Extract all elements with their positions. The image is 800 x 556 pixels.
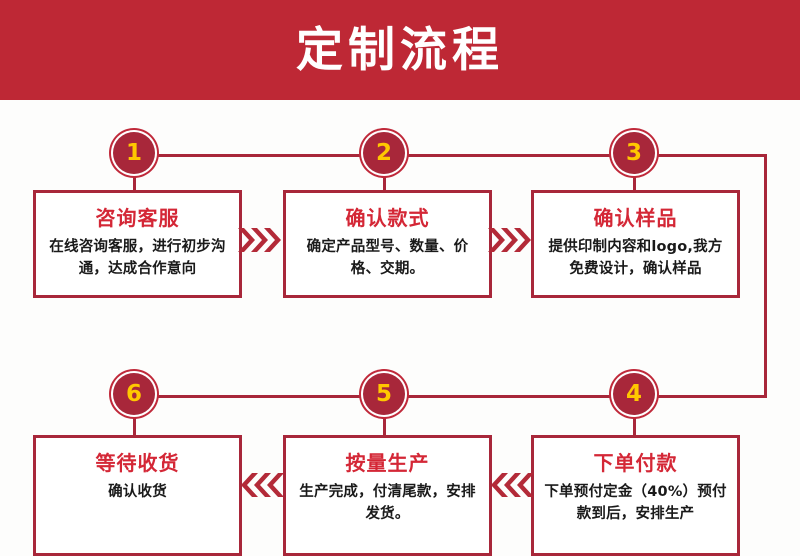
connector-stub-step3 [633, 172, 636, 192]
connector-stub-step1 [133, 172, 136, 192]
connector-stub-step2 [383, 172, 386, 192]
connector-stub-step6 [133, 413, 136, 435]
header-banner: 定制流程 [0, 0, 800, 100]
step-badge-2: 2 [363, 132, 405, 174]
step-badge-3: 3 [613, 132, 655, 174]
step-title: 按量生产 [286, 452, 489, 474]
step-box-6[interactable]: 等待收货 确认收货 [33, 435, 242, 556]
step-badge-number: 1 [126, 142, 142, 165]
connector-stub-step4 [633, 413, 636, 435]
arrow-left-step5-to-step6 [238, 473, 284, 497]
step-title: 确认款式 [286, 207, 489, 229]
connector-line-right-wrap [764, 154, 767, 398]
step-title: 确认样品 [534, 207, 737, 229]
step-title: 下单付款 [534, 452, 737, 474]
step-title: 等待收货 [36, 452, 239, 474]
page-title: 定制流程 [296, 27, 504, 74]
step-description: 确认收货 [36, 482, 239, 504]
step-badge-1: 1 [113, 132, 155, 174]
flow-diagram: 1 2 3 6 5 4 咨询客服 在线咨询客服，进行初步沟通，达成合作意向 确认… [0, 100, 800, 556]
arrow-left-step4-to-step5 [488, 473, 534, 497]
step-box-1[interactable]: 咨询客服 在线咨询客服，进行初步沟通，达成合作意向 [33, 190, 242, 298]
step-box-5[interactable]: 按量生产 生产完成，付清尾款，安排发货。 [283, 435, 492, 556]
step-description: 在线咨询客服，进行初步沟通，达成合作意向 [36, 237, 239, 281]
connector-stub-step5 [383, 413, 386, 435]
step-badge-number: 2 [376, 142, 392, 165]
step-badge-6: 6 [113, 373, 155, 415]
arrow-right-step1-to-step2 [238, 228, 284, 252]
step-badge-number: 3 [626, 142, 642, 165]
step-description: 提供印制内容和logo,我方免费设计，确认样品 [534, 237, 737, 281]
arrow-right-step2-to-step3 [488, 228, 534, 252]
step-badge-5: 5 [363, 373, 405, 415]
step-description: 下单预付定金（40%）预付款到后，安排生产 [534, 482, 737, 526]
step-badge-number: 6 [126, 383, 142, 406]
step-description: 确定产品型号、数量、价格、交期。 [286, 237, 489, 281]
step-box-2[interactable]: 确认款式 确定产品型号、数量、价格、交期。 [283, 190, 492, 298]
connector-line-top-rail [133, 154, 767, 157]
step-badge-number: 4 [626, 383, 642, 406]
step-box-3[interactable]: 确认样品 提供印制内容和logo,我方免费设计，确认样品 [531, 190, 740, 298]
connector-line-bottom-rail [133, 395, 767, 398]
step-box-4[interactable]: 下单付款 下单预付定金（40%）预付款到后，安排生产 [531, 435, 740, 556]
step-description: 生产完成，付清尾款，安排发货。 [286, 482, 489, 526]
step-badge-4: 4 [613, 373, 655, 415]
step-title: 咨询客服 [36, 207, 239, 229]
step-badge-number: 5 [376, 383, 392, 406]
